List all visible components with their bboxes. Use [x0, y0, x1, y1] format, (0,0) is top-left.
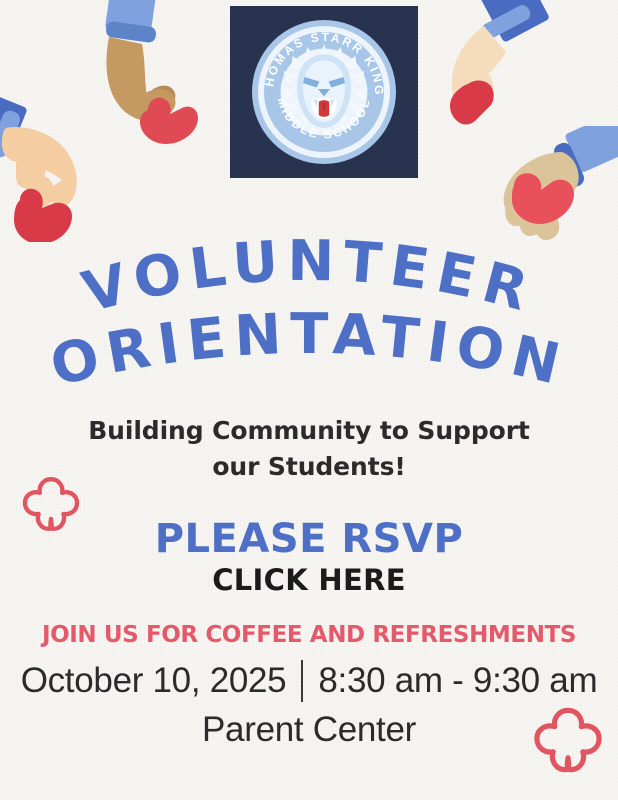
event-time: 8:30 am - 9:30 am [318, 661, 597, 701]
school-logo: THOMAS STARR KING MIDDLE SCHOOL [230, 6, 418, 178]
refreshments-line: JOIN US FOR COFFEE AND REFRESHMENTS [0, 622, 618, 648]
flyer-title-line-1: VOLUNTEER [0, 236, 618, 318]
school-seal-icon: THOMAS STARR KING MIDDLE SCHOOL [249, 17, 399, 167]
title-line-2-text: ORIENTATION [45, 302, 574, 399]
rsvp-block[interactable]: PLEASE RSVP CLICK HERE [0, 518, 618, 597]
event-date: October 10, 2025 [21, 661, 287, 701]
title-line-1-text: VOLUNTEER [76, 229, 542, 326]
subtitle-line-2: our Students! [0, 449, 618, 485]
flyer-subtitle: Building Community to Support our Studen… [0, 413, 618, 486]
hand-right-cradling-heart-icon [484, 126, 618, 248]
rsvp-click-here-link[interactable]: CLICK HERE [0, 563, 618, 597]
datetime-divider [301, 660, 303, 702]
hand-left-holding-heart-icon [0, 92, 110, 242]
event-location: Parent Center [0, 710, 618, 750]
subtitle-line-1: Building Community to Support [0, 413, 618, 449]
volunteer-orientation-flyer: THOMAS STARR KING MIDDLE SCHOOL [0, 0, 618, 800]
flyer-title-line-2: ORIENTATION [0, 306, 618, 388]
rsvp-heading: PLEASE RSVP [0, 518, 618, 560]
event-datetime-row: October 10, 2025 8:30 am - 9:30 am [0, 660, 618, 702]
